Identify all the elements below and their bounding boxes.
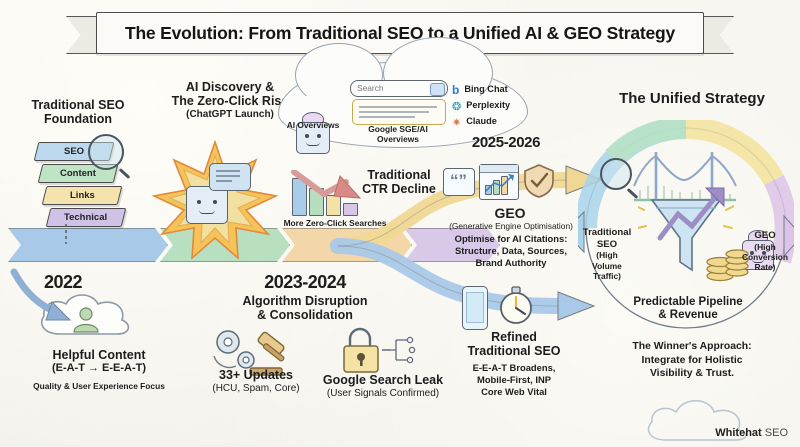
stage1-down-arrow	[8, 268, 80, 324]
sge-answer-box	[352, 99, 446, 125]
assistant-item-perplexity: ❂ Perplexity	[452, 98, 542, 114]
growth-arrow-icon	[652, 186, 736, 248]
seo-block-technical: Technical	[46, 208, 127, 227]
unified-right-line2: (High	[730, 242, 800, 252]
stage1-connector	[60, 224, 74, 246]
stage3-item1-sub: (HCU, Spam, Core)	[196, 383, 316, 395]
refined-seo-body-line3: Core Web Vital	[440, 386, 588, 398]
unified-right-label: GEO (High Conversion Rate)	[730, 230, 800, 272]
geo-body-line3: Brand Authority	[426, 257, 596, 269]
bing-icon: b	[452, 83, 459, 97]
helpful-content-line1: Helpful Content	[14, 348, 184, 362]
funnel-caption: Predictable Pipeline & Revenue	[608, 296, 768, 322]
funnel-caption-line1: Predictable Pipeline	[608, 296, 768, 309]
robot-icon	[186, 186, 228, 224]
refined-seo-line2: Traditional SEO	[444, 344, 584, 358]
closing-line3: Visibility & Trust.	[596, 367, 788, 381]
assistant-item-bing: b Bing Chat	[452, 82, 542, 98]
unified-left-line3: (High	[572, 250, 642, 260]
stage3-heading-line2: & Consolidation	[208, 308, 402, 322]
helpful-content-line2: (E-A-T → E-E-A-T)	[14, 362, 184, 375]
google-sge-label: Google SGE/AI Overviews	[348, 124, 448, 145]
unified-strategy-heading: The Unified Strategy	[592, 90, 792, 107]
analytics-chart-icon	[479, 164, 519, 200]
stage1-heading-line1: Traditional SEO	[16, 98, 140, 112]
search-placeholder: Search	[357, 83, 384, 93]
geo-body-line2: Structure, Data, Sources,	[426, 245, 596, 257]
mobile-phone-icon	[462, 286, 488, 330]
claude-icon: ✷	[452, 116, 461, 129]
shield-check-icon	[523, 163, 555, 199]
brand-name: Whitehat	[715, 427, 761, 439]
stage3-item2-title: Google Search Leak	[308, 373, 458, 387]
stage1-heading-line2: Foundation	[16, 112, 140, 126]
assistant-item-claude: ✷ Claude	[452, 114, 542, 130]
infographic-canvas: The Evolution: From Traditional SEO to a…	[0, 0, 800, 447]
stage3-heading: Algorithm Disruption & Consolidation	[208, 294, 402, 323]
stage3-item1-title: 33+ Updates	[196, 368, 316, 382]
sge-label-line1: Google SGE/AI	[348, 124, 448, 134]
geo-title: GEO	[440, 205, 580, 221]
closing-line1: The Winner's Approach:	[596, 340, 788, 354]
refined-seo-line1: Refined	[444, 330, 584, 344]
magnifier-icon	[88, 134, 124, 170]
brand-watermark: Whitehat SEO	[715, 427, 788, 439]
brand-suffix: SEO	[765, 427, 788, 439]
stopwatch-icon	[494, 283, 538, 327]
ai-assistant-list: b Bing Chat ❂ Perplexity ✷ Claude	[452, 82, 542, 130]
ctr-title-line1: Traditional	[352, 168, 446, 182]
chat-lines-icon	[213, 168, 245, 184]
assistant-label-bing: Bing Chat	[464, 84, 507, 95]
closing-statement: The Winner's Approach: Integrate for Hol…	[596, 340, 788, 381]
quote-icon: “”	[443, 168, 475, 196]
search-input[interactable]: Search	[350, 80, 448, 97]
perplexity-icon: ❂	[452, 100, 461, 113]
assistant-label-perplexity: Perplexity	[466, 100, 510, 111]
ctr-decline-title: Traditional CTR Decline	[352, 168, 446, 197]
helpful-content-title: Helpful Content (E-A-T → E-E-A-T)	[14, 348, 184, 376]
unified-left-line1: Traditional	[572, 227, 642, 239]
unified-left-line2: SEO	[572, 239, 642, 251]
refined-seo-body-line1: E-E-A-T Broadens,	[440, 362, 588, 374]
stage3-heading-line1: Algorithm Disruption	[208, 294, 402, 308]
seo-block-links: Links	[42, 186, 123, 205]
closing-line2: Integrate for Holistic	[596, 354, 788, 368]
stage1-heading: Traditional SEO Foundation	[16, 98, 140, 127]
sge-label-line2: Overviews	[348, 134, 448, 144]
search-icon[interactable]	[430, 83, 445, 96]
geo-expansion: (Generative Engine Optimisation)	[428, 221, 594, 231]
unified-right-line4: Rate)	[730, 262, 800, 272]
helpful-content-note: Quality & User Experience Focus	[6, 381, 192, 391]
timeline-segment-1	[8, 228, 168, 262]
unified-left-line5: Traffic)	[572, 271, 642, 281]
ctr-title-line2: CTR Decline	[352, 182, 446, 196]
geo-body: Optimise for AI Citations: Structure, Da…	[426, 233, 596, 268]
refined-seo-title: Refined Traditional SEO	[444, 330, 584, 359]
stage3-year: 2023-2024	[212, 272, 398, 293]
unified-left-line4: Volume	[572, 261, 642, 271]
stage4-year: 2025-2026	[438, 134, 574, 151]
unified-right-line3: Conversion	[730, 252, 800, 262]
assistant-label-claude: Claude	[466, 116, 497, 127]
ai-overviews-label: AI Overviews	[278, 120, 348, 130]
unified-right-line1: GEO	[730, 230, 800, 242]
geo-body-line1: Optimise for AI Citations:	[426, 233, 596, 245]
unified-left-label: Traditional SEO (High Volume Traffic)	[572, 227, 642, 281]
ctr-decline-caption: More Zero-Click Searches	[270, 218, 400, 228]
padlock-circuit-icon	[334, 326, 430, 376]
funnel-caption-line2: & Revenue	[608, 309, 768, 322]
refined-seo-body: E-E-A-T Broadens, Mobile-First, INP Core…	[440, 362, 588, 397]
unified-magnifier-icon	[600, 158, 632, 190]
seo-blocks-stack: SEO Content Links Technical	[30, 142, 140, 228]
refined-seo-body-line2: Mobile-First, INP	[440, 374, 588, 386]
page-title: The Evolution: From Traditional SEO to a…	[125, 23, 675, 44]
